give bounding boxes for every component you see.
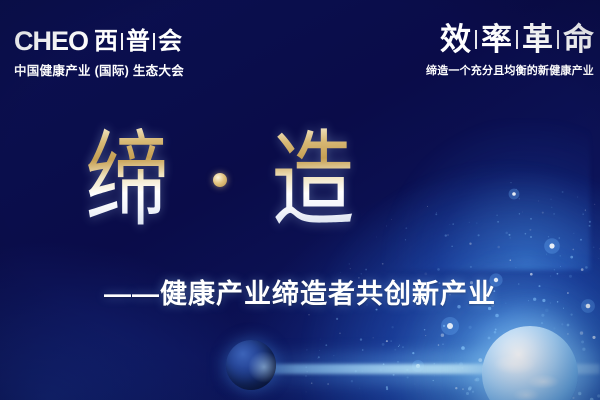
logo-divider-icon (121, 33, 123, 50)
planet-icon (226, 340, 276, 390)
main-title: 缔 造 (0, 128, 440, 232)
slogan-char-4: 命 (563, 24, 594, 55)
title-char-right: 造 (271, 128, 354, 232)
logo-chinese-wordmark: 西 普 会 (94, 30, 182, 54)
logo-cn-char-2: 普 (126, 30, 150, 54)
logo-latin-wordmark: CHEO (14, 28, 88, 55)
campaign-slogan: 效 率 革 命 缔造一个充分且均衡的新健康产业 (394, 24, 594, 78)
slogan-char-1: 效 (440, 24, 471, 55)
slogan-char-3: 革 (522, 24, 553, 55)
sub-headline: ——健康产业缔造者共创新产业 (0, 272, 600, 311)
poster-canvas: CHEO 西 普 会 中国健康产业 (国际) 生态大会 效 率 革 命 缔造一个… (0, 0, 600, 400)
slogan-divider-icon (557, 30, 559, 49)
logo-subtitle: 中国健康产业 (国际) 生态大会 (14, 60, 214, 79)
logo-cn-char-3: 会 (158, 30, 182, 54)
slogan-subtitle: 缔造一个充分且均衡的新健康产业 (394, 62, 594, 78)
globe-icon (482, 326, 578, 400)
slogan-char-2: 率 (481, 24, 512, 55)
slogan-headline: 效 率 革 命 (394, 24, 594, 55)
logo-cn-char-1: 西 (94, 30, 118, 54)
brand-logo: CHEO 西 普 会 中国健康产业 (国际) 生态大会 (14, 28, 214, 79)
title-separator-dot-icon (213, 173, 227, 187)
slogan-divider-icon (475, 30, 477, 49)
title-char-left: 缔 (85, 128, 168, 232)
logo-divider-icon (153, 33, 155, 50)
logo-wordmark-row: CHEO 西 普 会 (14, 28, 214, 55)
slogan-divider-icon (516, 30, 518, 49)
